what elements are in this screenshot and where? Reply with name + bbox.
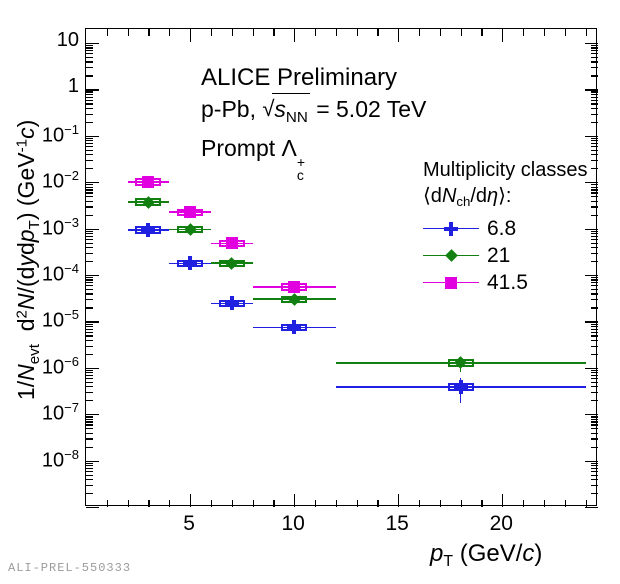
y-axis-tick	[585, 507, 598, 508]
legend-label: 41.5	[487, 271, 528, 295]
y-tick-label: 10−5	[17, 307, 79, 333]
y-axis-tick	[86, 507, 99, 508]
x-axis-title: pT (GeV/c)	[430, 540, 542, 571]
legend-entry-21[interactable]: 21	[423, 242, 587, 269]
x-tick-label: 20	[471, 512, 531, 536]
x-tick-label: 5	[159, 512, 219, 536]
y-tick-label: 10−3	[17, 215, 79, 241]
legend-marker-diamond-icon	[423, 247, 479, 265]
x-tick-label: 15	[367, 512, 427, 536]
y-tick-label: 10−6	[17, 354, 79, 380]
y-tick-label: 10	[17, 29, 79, 52]
y-tick-label: 10−2	[17, 168, 79, 194]
y-tick-label: 10−4	[17, 261, 79, 287]
annotation-block: ALICE Preliminary p-Pb, √sNN = 5.02 TeV …	[201, 63, 426, 163]
chart-figure: 1/Nevt d2N/(dydpT) (GeV-1c) pT (GeV/c) A…	[0, 0, 620, 584]
legend-label: 6.8	[487, 217, 516, 241]
annotation-particle: Prompt Λ+c	[201, 133, 426, 163]
annotation-alice-preliminary: ALICE Preliminary	[201, 63, 426, 93]
plot-area: ALICE Preliminary p-Pb, √sNN = 5.02 TeV …	[85, 28, 597, 506]
y-tick-label: 1	[17, 75, 79, 98]
y-tick-label: 10−8	[17, 447, 79, 473]
legend-title-line1: Multiplicity classes	[423, 157, 587, 183]
legend-title-line2: ⟨dNch/dη⟩:	[423, 183, 587, 215]
annotation-collision-system: p-Pb, √sNN = 5.02 TeV	[201, 93, 426, 133]
legend-label: 21	[487, 244, 510, 268]
legend-entry-41.5[interactable]: 41.5	[423, 269, 587, 296]
watermark-label: ALI-PREL-550333	[8, 561, 131, 575]
y-tick-label: 10−7	[17, 400, 79, 426]
x-tick-label: 10	[263, 512, 323, 536]
legend-marker-square-icon	[423, 274, 479, 292]
y-tick-label: 10−1	[17, 122, 79, 148]
legend-marker-cross-icon	[423, 220, 479, 238]
legend: Multiplicity classes ⟨dNch/dη⟩: 6.82141.…	[423, 157, 587, 296]
legend-entry-6.8[interactable]: 6.8	[423, 215, 587, 242]
